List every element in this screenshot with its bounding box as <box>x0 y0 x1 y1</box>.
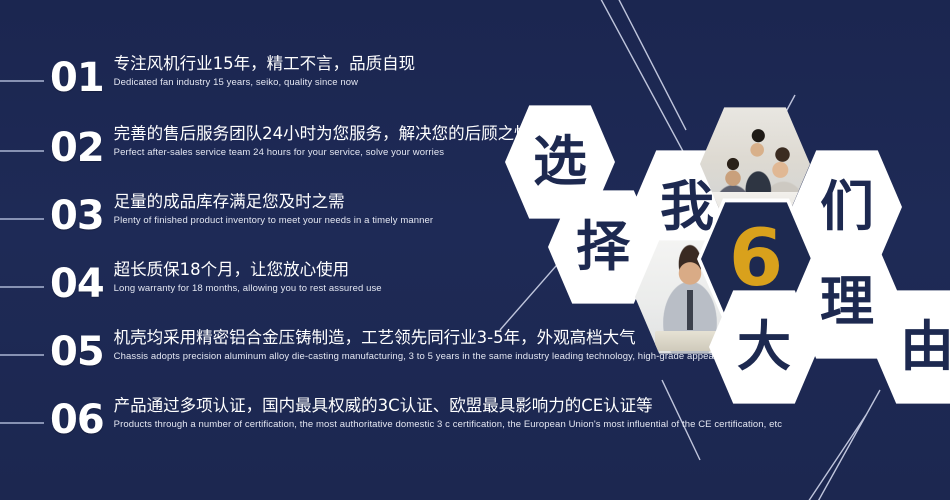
banner-canvas: 01 专注风机行业15年，精工不言，品质自现 Dedicated fan ind… <box>0 0 950 500</box>
hexagon-label-six: 6 <box>729 220 783 298</box>
hexagon-label-ze: 择 <box>576 220 630 274</box>
hexagon-label-li: 理 <box>820 275 874 329</box>
hexagon-cluster: 选 择 我 business-team-meeting-photo busine… <box>0 0 950 500</box>
hexagon-label-da: 大 <box>737 320 791 374</box>
hexagon-label-men: 们 <box>820 180 874 234</box>
hexagon-label-you: 由 <box>900 320 950 374</box>
hexagon-label-xuan: 选 <box>533 135 587 189</box>
